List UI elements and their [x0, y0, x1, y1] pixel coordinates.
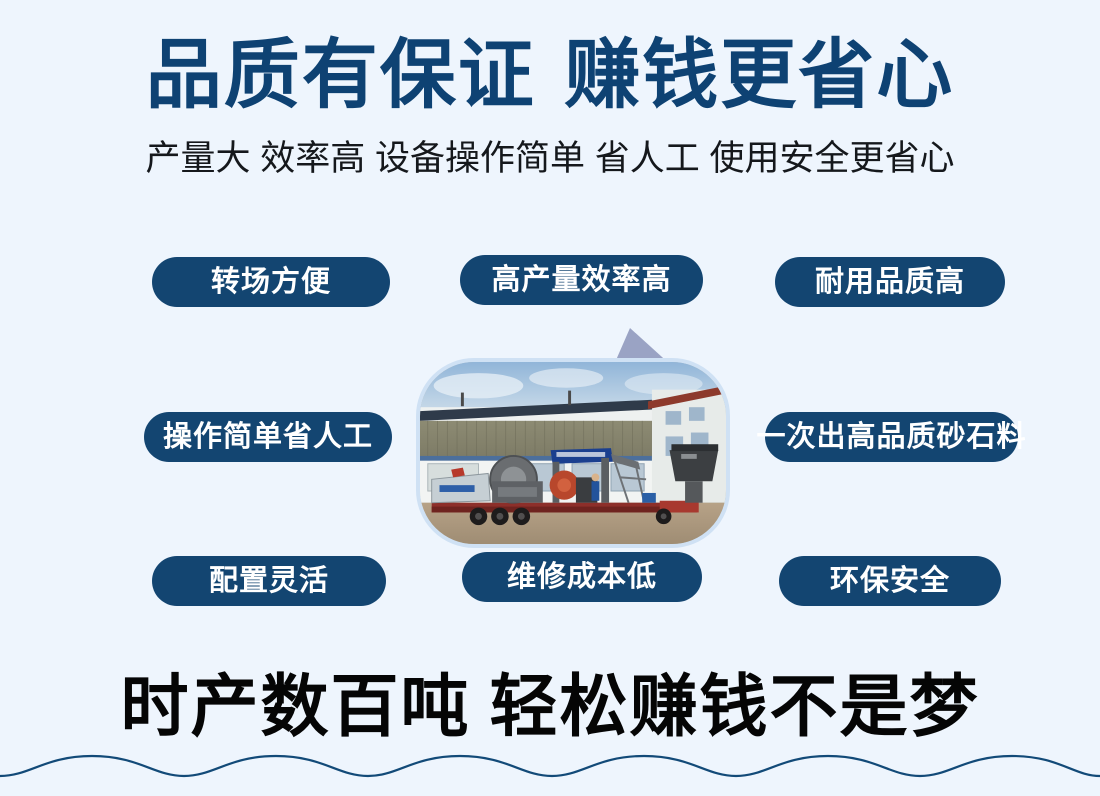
feature-pill-low-maintenance-cost[interactable]: 维修成本低 [462, 552, 702, 602]
feature-pill-flexible-configuration[interactable]: 配置灵活 [152, 556, 386, 606]
product-photo [416, 358, 730, 548]
feature-pill-high-quality-aggregate[interactable]: 一次出高品质砂石料 [765, 412, 1018, 462]
feature-pill-transfer-convenient[interactable]: 转场方便 [152, 257, 390, 307]
page-title: 品质有保证 赚钱更省心 [0, 34, 1100, 116]
page-subtitle: 产量大 效率高 设备操作简单 省人工 使用安全更省心 [0, 138, 1100, 180]
feature-pill-durable-quality[interactable]: 耐用品质高 [775, 257, 1005, 307]
product-photo-illustration [420, 362, 726, 544]
wave-divider-icon [0, 748, 1100, 788]
feature-pill-eco-friendly-safe[interactable]: 环保安全 [779, 556, 1001, 606]
poster-root: 品质有保证 赚钱更省心 产量大 效率高 设备操作简单 省人工 使用安全更省心 转… [0, 0, 1100, 796]
feature-pill-high-output-efficiency[interactable]: 高产量效率高 [460, 255, 703, 305]
feature-pill-simple-operation-saves-labor[interactable]: 操作简单省人工 [144, 412, 392, 462]
footer-title: 时产数百吨 轻松赚钱不是梦 [0, 668, 1100, 746]
